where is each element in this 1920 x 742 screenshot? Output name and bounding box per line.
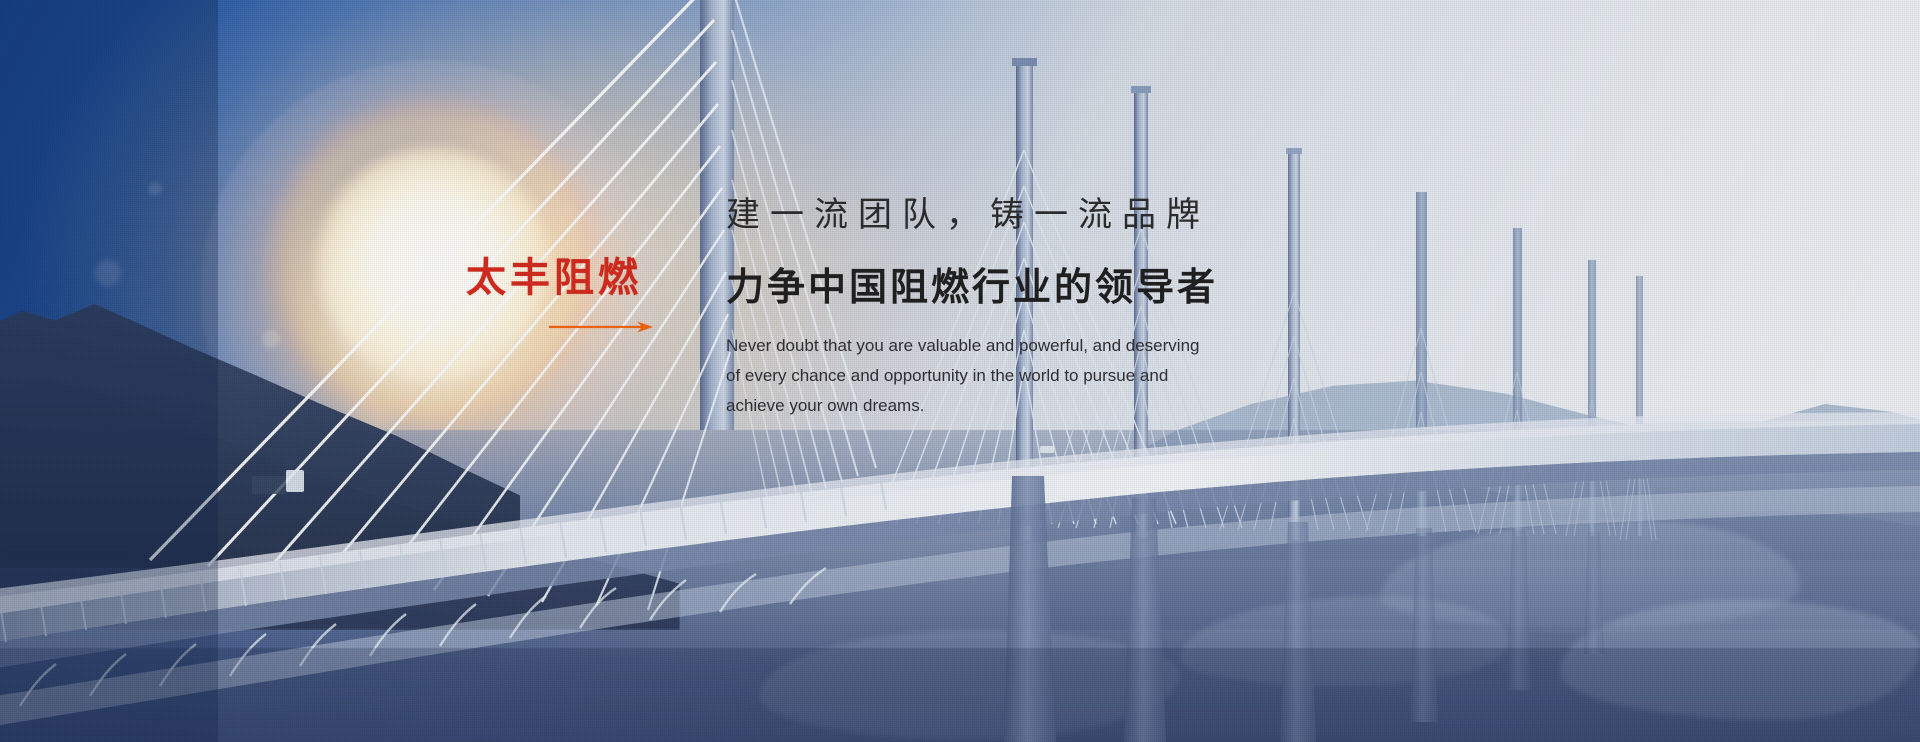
brand-logo-text: 太丰阻燃 (466, 258, 666, 298)
brand-logo[interactable]: 太丰阻燃 (466, 258, 666, 298)
hero-banner: 太丰阻燃 建一流团队，铸一流品牌 力争中国阻燃行业的领导者 Never doub… (0, 0, 1920, 742)
subcopy-line: achieve your own dreams. (726, 391, 1196, 421)
headline-secondary: 力争中国阻燃行业的领导者 (726, 256, 1218, 311)
subcopy-line: Never doubt that you are valuable and po… (726, 331, 1196, 361)
banner-content: 太丰阻燃 建一流团队，铸一流品牌 力争中国阻燃行业的领导者 Never doub… (0, 0, 1920, 742)
right-arrow-icon (549, 320, 659, 334)
subcopy-block: Never doubt that you are valuable and po… (726, 331, 1196, 421)
subcopy-line: of every chance and opportunity in the w… (726, 361, 1196, 391)
headline-primary: 建一流团队，铸一流品牌 (726, 187, 1210, 236)
